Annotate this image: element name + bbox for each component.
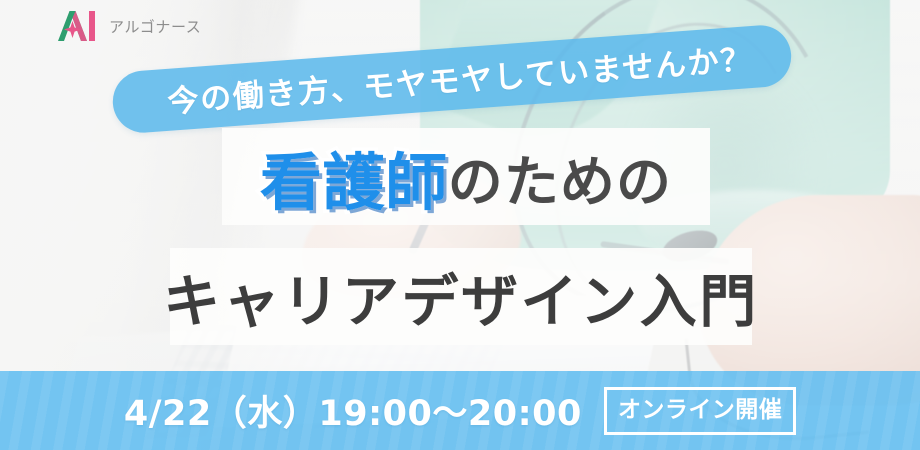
brand-name-label: アルゴナース	[109, 16, 201, 37]
title-line1-suffix: のための	[448, 137, 672, 217]
webinar-banner: アルゴナース 今の働き方、モヤモヤしていませんか？ 看護師 のための キャリアデ…	[0, 0, 920, 450]
footer-bar: 4/22（水）19:00〜20:00 オンライン開催	[0, 371, 920, 450]
title-line-1: 看護師 のための	[222, 128, 710, 225]
title-line-2: キャリアデザイン入門	[170, 248, 752, 345]
ai-monogram-logo-icon	[56, 8, 100, 44]
brand-logo[interactable]: アルゴナース	[56, 8, 201, 44]
event-datetime: 4/22（水）19:00〜20:00	[124, 385, 582, 436]
online-event-badge: オンライン開催	[604, 387, 796, 435]
title-line2-text: キャリアデザイン入門	[163, 256, 759, 338]
title-keyword-nurse: 看護師	[260, 132, 448, 222]
